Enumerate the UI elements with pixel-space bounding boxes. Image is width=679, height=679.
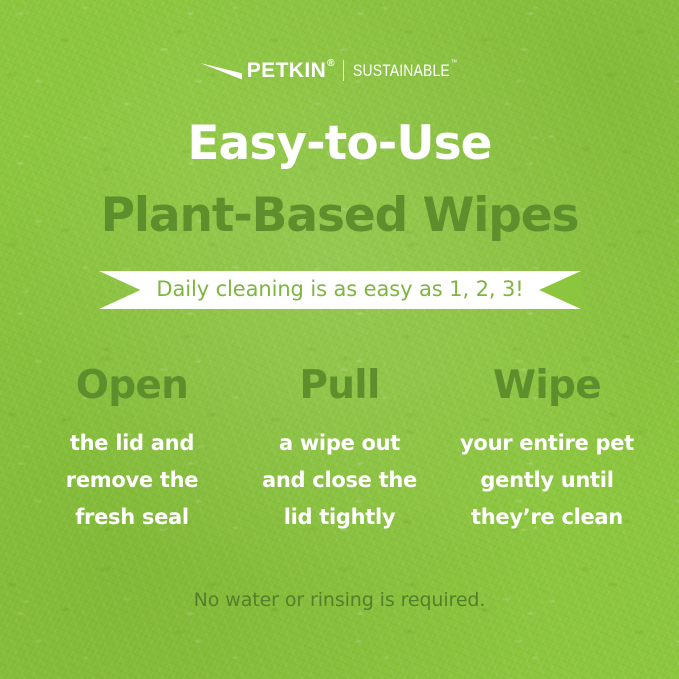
product-infographic-poster: PETKIN® SUSTAINABLE™ Easy-to-Use Plant-B… (0, 0, 679, 679)
step-body-line: the lid and (34, 425, 230, 462)
steps-row: Open the lid and remove the fresh seal P… (34, 366, 645, 536)
step-title: Pull (242, 366, 438, 405)
step-body: a wipe out and close the lid tightly (242, 425, 438, 536)
footer-note: No water or rinsing is required. (0, 591, 679, 610)
brand-name: PETKIN® (247, 60, 334, 81)
step-body-line: and close the (242, 462, 438, 499)
headline-line-2: Plant-Based Wipes (0, 192, 679, 239)
step-wipe: Wipe your entire pet gently until they’r… (449, 366, 645, 536)
petkin-swoosh-icon (200, 63, 242, 80)
step-title: Open (34, 366, 230, 405)
brand-name-text: PETKIN (247, 59, 326, 82)
step-open: Open the lid and remove the fresh seal (34, 366, 230, 536)
headline-line-1: Easy-to-Use (0, 120, 679, 167)
brand-sub-name-text: SUSTAINABLE (353, 61, 450, 80)
brand-divider (343, 60, 344, 81)
brand-sub-name: SUSTAINABLE™ (353, 62, 457, 79)
step-body-line: gently until (449, 462, 645, 499)
step-body-line: they’re clean (449, 499, 645, 536)
step-body: the lid and remove the fresh seal (34, 425, 230, 536)
step-body: your entire pet gently until they’re cle… (449, 425, 645, 536)
step-body-line: a wipe out (242, 425, 438, 462)
step-body-line: fresh seal (34, 499, 230, 536)
step-title: Wipe (449, 366, 645, 405)
tagline-ribbon-banner: Daily cleaning is as easy as 1, 2, 3! (99, 271, 581, 309)
content-layer: PETKIN® SUSTAINABLE™ Easy-to-Use Plant-B… (0, 0, 679, 679)
step-body-line: your entire pet (449, 425, 645, 462)
step-body-line: lid tightly (242, 499, 438, 536)
ribbon-tagline-text: Daily cleaning is as easy as 1, 2, 3! (99, 271, 581, 309)
step-body-line: remove the (34, 462, 230, 499)
step-pull: Pull a wipe out and close the lid tightl… (242, 366, 438, 536)
registered-trademark-icon: ® (327, 58, 335, 69)
trademark-icon: ™ (451, 58, 458, 67)
brand-lockup: PETKIN® SUSTAINABLE™ (0, 57, 679, 83)
